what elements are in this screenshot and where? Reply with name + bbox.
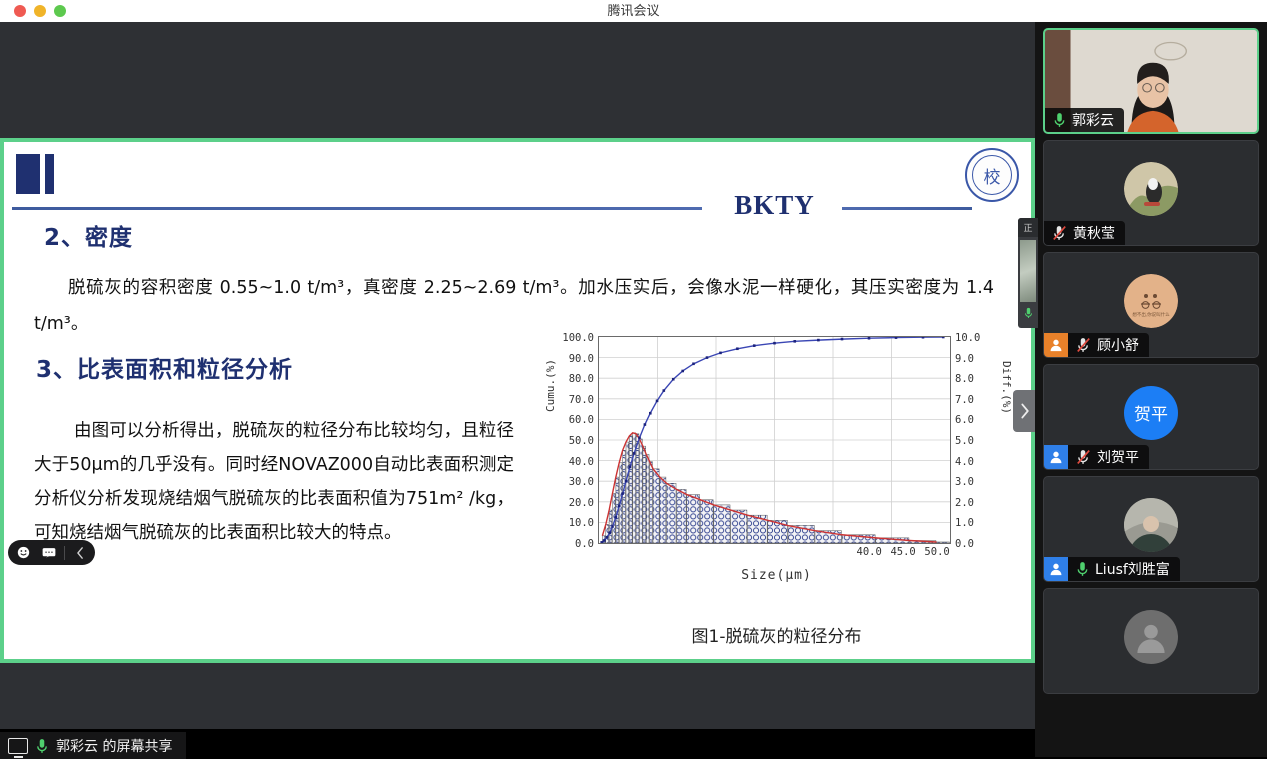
figure-caption: 图1-脱硫灰的粒径分布 [544, 622, 1009, 647]
avatar [1124, 610, 1178, 664]
microphone-on-icon [36, 738, 48, 754]
chart-data-point [817, 339, 820, 342]
shared-screen-frame: BKTY 校 2、密度 脱硫灰的容积密度 0.55~1.0 t/m³，真密度 2… [0, 138, 1035, 663]
chart-bar [677, 489, 687, 543]
chart-bar [768, 520, 788, 543]
chart-y-tick: 40.0 [548, 456, 594, 468]
chart-svg [599, 337, 950, 543]
microphone-muted-icon [1052, 225, 1067, 241]
chart-data-point [663, 389, 666, 392]
chart-data-point [773, 342, 776, 345]
chart-plot-area [598, 336, 951, 544]
chart-data-point [603, 539, 606, 542]
chart-data-point [618, 505, 621, 508]
chart-y2-tick: 8.0 [955, 373, 1001, 385]
chart-data-point [611, 525, 614, 528]
chart-data-point [706, 356, 709, 359]
chart-data-point [692, 362, 695, 365]
chart-y-tick: 60.0 [548, 414, 594, 426]
chart-x-tick: 45.0 [890, 546, 915, 558]
chart-y2-tick: 2.0 [955, 497, 1001, 509]
microphone-muted-icon [1076, 337, 1091, 353]
slide-logo-mark [16, 154, 54, 194]
participant-namebar: 黄秋莹 [1044, 221, 1125, 245]
chart-y2-tick: 6.0 [955, 414, 1001, 426]
chart-data-point [922, 337, 925, 339]
chart-y2-tick: 1.0 [955, 517, 1001, 529]
chart-data-point [719, 352, 722, 355]
chart-diff-bars [602, 433, 949, 543]
chart-y-tick: 80.0 [548, 373, 594, 385]
chart-data-point [793, 340, 796, 343]
seal-glyph: 校 [984, 163, 1001, 188]
meeting-stage: 腾讯会议 BKTY 校 2、密度 脱硫灰的容积密度 0.55~1.0 t/m³，… [0, 22, 1035, 729]
chevron-right-icon [1019, 403, 1030, 419]
participant-name: 刘贺平 [1097, 447, 1139, 467]
chart-data-point [868, 337, 871, 340]
participant-tile[interactable]: 贺平刘贺平 [1043, 364, 1259, 470]
chart-bar [660, 477, 666, 543]
participant-role-badge [1044, 333, 1068, 357]
chart-bar [626, 442, 629, 543]
chart-y-tick: 70.0 [548, 394, 594, 406]
chart-data-point [681, 370, 684, 373]
chart-data-point [656, 400, 659, 403]
window-titlebar: 腾讯会议 [0, 0, 1267, 22]
participant-namebar: 顾小舒 [1068, 333, 1149, 357]
microphone-on-icon [1076, 561, 1089, 577]
section-body-surface-area: 由图可以分析得出，脱硫灰的粒径分布比较均匀，且粒径大于50μm的几乎没有。同时经… [34, 414, 514, 550]
presentation-slide: BKTY 校 2、密度 脱硫灰的容积密度 0.55~1.0 t/m³，真密度 2… [4, 142, 1031, 659]
chart-bar [687, 495, 700, 543]
chart-y2-tick: 3.0 [955, 476, 1001, 488]
chart-y2-tick: 4.0 [955, 456, 1001, 468]
chart-y-ticks: 100.090.080.070.060.050.040.030.020.010.… [544, 332, 594, 547]
slide-header-rule: BKTY [12, 198, 1022, 218]
chart-data-point [615, 516, 618, 519]
chart-y2-tick: 0.0 [955, 538, 1001, 550]
chart-data-point [895, 337, 898, 339]
chart-data-point [942, 337, 945, 338]
toolbar-divider [64, 546, 65, 560]
chart-bar [653, 469, 659, 543]
chart-data-point [841, 338, 844, 341]
chart-data-point [621, 492, 624, 495]
participant-name: Liusf刘胜富 [1095, 559, 1170, 579]
chevron-left-icon[interactable] [69, 543, 91, 562]
participant-name: 顾小舒 [1097, 335, 1139, 355]
chat-bubble-icon[interactable] [38, 543, 60, 562]
participant-tile[interactable]: Liusf刘胜富 [1043, 476, 1259, 582]
participant-role-badge [1044, 557, 1068, 581]
participant-namebar: 郭彩云 [1045, 108, 1124, 132]
chart-data-point [649, 412, 652, 415]
chart-bar [667, 483, 677, 543]
chart-y-tick: 90.0 [548, 353, 594, 365]
chart-y-tick: 30.0 [548, 476, 594, 488]
chart-data-point [633, 452, 636, 455]
participant-name: 郭彩云 [1072, 110, 1114, 130]
chart-data-point [606, 536, 609, 539]
avatar [1124, 498, 1178, 552]
participant-namebar: Liusf刘胜富 [1068, 557, 1180, 581]
slide-brand-text: BKTY [712, 190, 837, 221]
chart-data-point [625, 480, 628, 483]
microphone-muted-icon [1076, 449, 1091, 465]
self-view-thumbnail[interactable]: 正 [1018, 218, 1038, 328]
particle-size-distribution-chart: Cumu.(%) Diff.(%) 100.090.080.070.060.05… [544, 332, 1009, 597]
participant-role-badge [1044, 445, 1068, 469]
chart-y-tick: 50.0 [548, 435, 594, 447]
chart-bar [629, 436, 632, 543]
emoji-face-icon[interactable] [12, 543, 34, 562]
participant-tile[interactable]: 郭彩云 [1043, 28, 1259, 134]
screen-share-status-text: 郭彩云 的屏幕共享 [56, 736, 172, 756]
chart-data-point [644, 423, 647, 426]
chart-bar [937, 542, 950, 543]
chart-x-tick: 50.0 [924, 546, 949, 558]
avatar: 贺平 [1124, 386, 1178, 440]
chart-bar [700, 500, 713, 543]
avatar: 想不出,你说叫什么 [1124, 274, 1178, 328]
chart-data-point [753, 344, 756, 347]
participant-tile[interactable] [1043, 588, 1259, 694]
screen-share-status-bar: 郭彩云 的屏幕共享 [0, 732, 186, 759]
section-heading-surface-area: 3、比表面积和粒径分析 [36, 350, 293, 384]
chart-data-point [672, 378, 675, 381]
participant-name: 黄秋莹 [1073, 223, 1115, 243]
chart-bar [650, 462, 653, 543]
chart-y-tick: 100.0 [548, 332, 594, 344]
self-view-label: 正 [1018, 218, 1038, 237]
chart-data-point [638, 437, 641, 440]
chart-bar [640, 439, 643, 543]
chart-y-tick: 0.0 [548, 538, 594, 550]
chart-y2-tick: 9.0 [955, 353, 1001, 365]
expand-panel-button[interactable] [1013, 390, 1035, 432]
chart-bar [714, 505, 730, 543]
chart-bar [643, 446, 646, 543]
university-seal-logo: 校 [965, 148, 1019, 202]
screen-share-icon [8, 738, 28, 754]
chart-bar [606, 524, 609, 543]
participant-rail[interactable]: 郭彩云黄秋莹想不出,你说叫什么顾小舒贺平刘贺平Liusf刘胜富 [1035, 22, 1267, 757]
chart-bar [623, 450, 626, 543]
participant-tile[interactable]: 黄秋莹 [1043, 140, 1259, 246]
chart-data-point [736, 347, 739, 350]
chart-bar [731, 510, 747, 543]
svg-text:想不出,你说叫什么: 想不出,你说叫什么 [1132, 311, 1170, 318]
participant-tile[interactable]: 想不出,你说叫什么顾小舒 [1043, 252, 1259, 358]
chart-y-tick: 10.0 [548, 517, 594, 529]
chart-y2-tick: 5.0 [955, 435, 1001, 447]
chart-y2-ticks: 10.09.08.07.06.05.04.03.02.01.00.0 [955, 332, 1001, 547]
chart-data-point [609, 531, 612, 534]
slide-mini-toolbar[interactable] [8, 540, 95, 565]
avatar [1124, 162, 1178, 216]
chart-y2-axis-label: Diff.(%) [1000, 361, 1013, 414]
participant-namebar: 刘贺平 [1068, 445, 1149, 469]
chart-y2-tick: 7.0 [955, 394, 1001, 406]
microphone-on-icon [1053, 112, 1066, 128]
chart-data-point [600, 541, 603, 543]
chart-bar [646, 454, 649, 543]
chart-data-point [629, 465, 632, 468]
self-view-video [1020, 240, 1036, 302]
chart-x-axis-label: Size(μm) [544, 568, 1009, 583]
section-heading-density: 2、密度 [44, 218, 133, 252]
chart-y2-tick: 10.0 [955, 332, 1001, 344]
chart-x-tick: 40.0 [857, 546, 882, 558]
chart-bar [636, 434, 639, 543]
chart-y-tick: 20.0 [548, 497, 594, 509]
window-title: 腾讯会议 [0, 0, 1267, 22]
microphone-on-icon [1022, 306, 1034, 320]
